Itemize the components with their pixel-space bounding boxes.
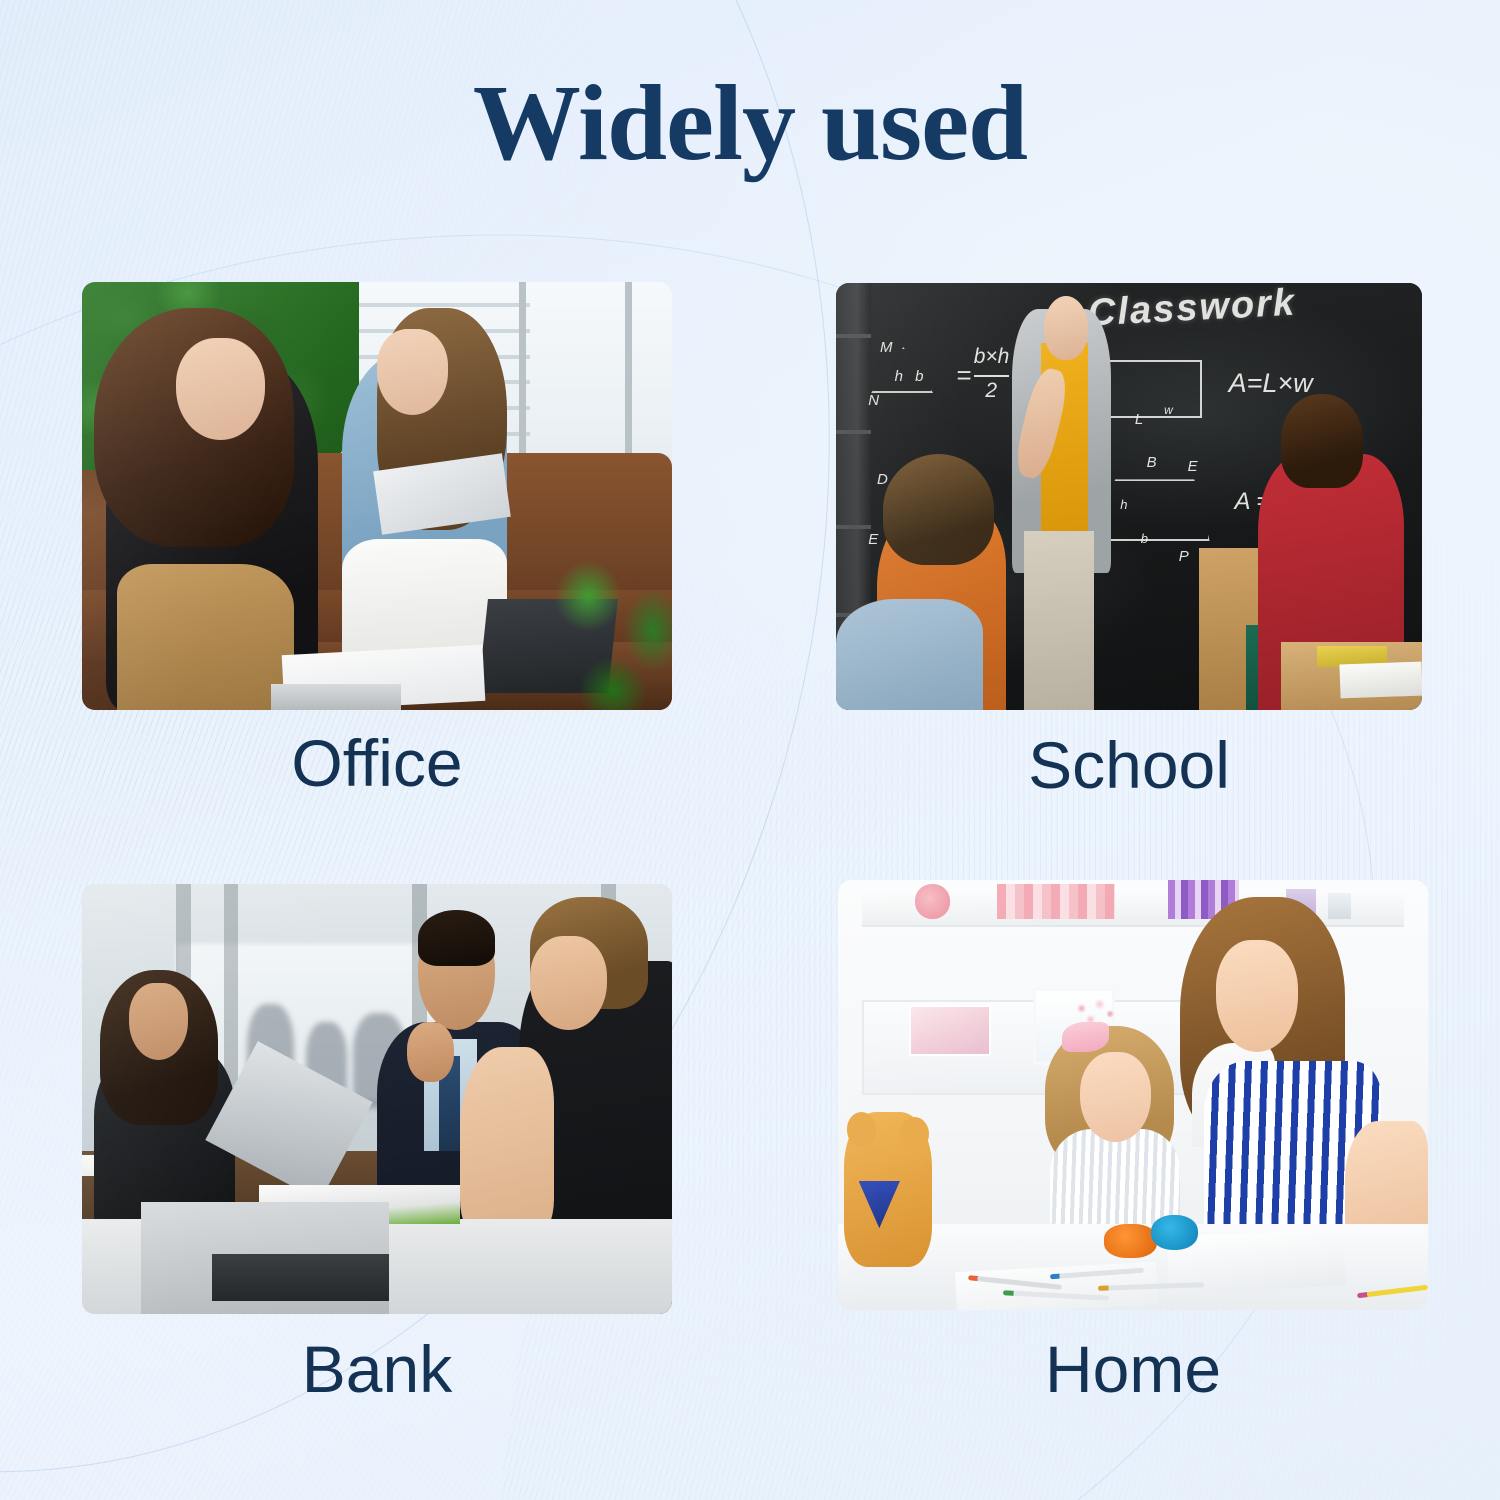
card-caption-home: Home (838, 1336, 1428, 1402)
card-caption-office: Office (82, 730, 672, 796)
usage-scenarios-grid: Office Classwork M h b N = b×h 2 (0, 0, 1500, 1500)
photo-school: Classwork M h b N = b×h 2 L w A=L×w D h … (836, 283, 1422, 710)
photo-bank (82, 884, 672, 1314)
photo-office (82, 282, 672, 710)
card-bank[interactable] (82, 884, 672, 1314)
card-school[interactable]: Classwork M h b N = b×h 2 L w A=L×w D h … (836, 283, 1422, 710)
photo-home (838, 880, 1428, 1310)
card-caption-school: School (836, 732, 1422, 798)
card-home[interactable] (838, 880, 1428, 1310)
card-office[interactable] (82, 282, 672, 710)
card-caption-bank: Bank (82, 1336, 672, 1402)
